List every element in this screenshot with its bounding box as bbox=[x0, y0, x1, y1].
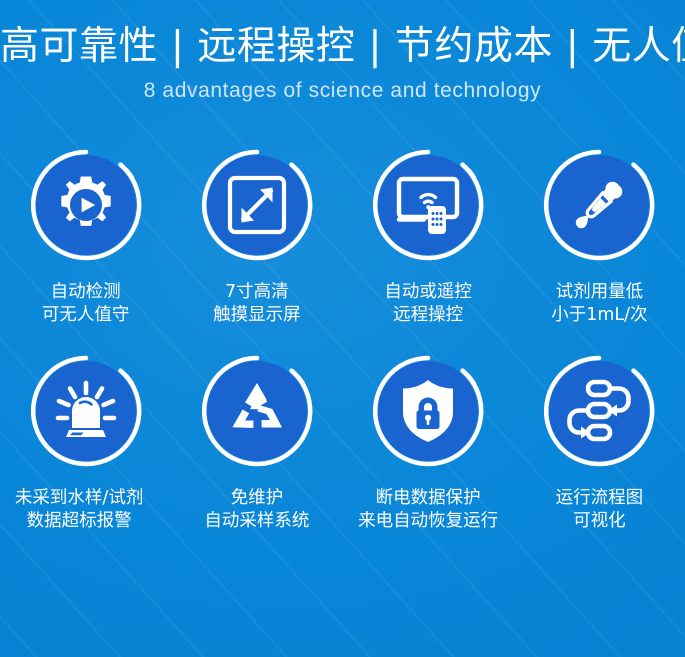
recycle-icon bbox=[207, 361, 307, 461]
advantage-item-2[interactable]: 7寸高清 触摸显示屏 bbox=[171, 146, 342, 327]
advantage-label: 试剂用量低 小于1mL/次 bbox=[551, 281, 647, 327]
advantage-label-line1: 免维护 bbox=[204, 487, 309, 510]
icon-circle bbox=[369, 352, 487, 470]
page-title: 高可靠性 | 远程操控 | 节约成本 | 无人值守 bbox=[0, 0, 685, 70]
advantages-grid: 自动检测 可无人值守 bbox=[0, 146, 685, 533]
advantages-infographic: 高可靠性 | 远程操控 | 节约成本 | 无人值守 8 advantages o… bbox=[0, 0, 685, 657]
advantage-label-line2: 自动采样系统 bbox=[204, 510, 309, 533]
advantage-item-3[interactable]: 自动或遥控 远程操控 bbox=[343, 146, 514, 327]
advantage-label: 运行流程图 可视化 bbox=[556, 487, 644, 533]
advantage-label: 免维护 自动采样系统 bbox=[204, 487, 309, 533]
advantage-label-line1: 试剂用量低 bbox=[551, 281, 647, 304]
icon-circle bbox=[369, 146, 487, 264]
icon-circle bbox=[27, 352, 145, 470]
advantage-label-line2: 远程操控 bbox=[384, 304, 472, 327]
advantage-label: 自动检测 可无人值守 bbox=[42, 281, 130, 327]
advantage-item-5[interactable]: 未采到水样/试剂 数据超标报警 bbox=[0, 352, 171, 533]
alarm-siren-icon bbox=[36, 361, 136, 461]
icon-circle bbox=[540, 146, 658, 264]
advantage-label-line2: 来电自动恢复运行 bbox=[358, 510, 498, 533]
advantage-label-line2: 数据超标报警 bbox=[15, 510, 143, 533]
icon-circle bbox=[198, 146, 316, 264]
advantage-item-6[interactable]: 免维护 自动采样系统 bbox=[171, 352, 342, 533]
advantage-label: 未采到水样/试剂 数据超标报警 bbox=[15, 487, 143, 533]
advantages-row-2: 未采到水样/试剂 数据超标报警 bbox=[0, 352, 685, 533]
advantage-label-line2: 可视化 bbox=[556, 510, 644, 533]
advantage-label: 断电数据保护 来电自动恢复运行 bbox=[358, 487, 498, 533]
expand-arrows-icon bbox=[207, 155, 307, 255]
icon-circle bbox=[27, 146, 145, 264]
advantage-label-line1: 自动或遥控 bbox=[384, 281, 472, 304]
gear-play-icon bbox=[36, 155, 136, 255]
advantages-row-1: 自动检测 可无人值守 bbox=[0, 146, 685, 327]
advantage-label-line1: 自动检测 bbox=[42, 281, 130, 304]
shield-lock-icon bbox=[378, 361, 478, 461]
advantage-label-line2: 触摸显示屏 bbox=[213, 304, 301, 327]
flowchart-loop-icon bbox=[549, 361, 649, 461]
advantage-label-line2: 小于1mL/次 bbox=[551, 304, 647, 327]
advantage-label-line1: 未采到水样/试剂 bbox=[15, 487, 143, 510]
advantage-label: 自动或遥控 远程操控 bbox=[384, 281, 472, 327]
header: 高可靠性 | 远程操控 | 节约成本 | 无人值守 8 advantages o… bbox=[0, 0, 685, 103]
advantage-item-8[interactable]: 运行流程图 可视化 bbox=[514, 352, 685, 533]
advantage-label: 7寸高清 触摸显示屏 bbox=[213, 281, 301, 327]
advantage-label-line2: 可无人值守 bbox=[42, 304, 130, 327]
advantage-label-line1: 7寸高清 bbox=[213, 281, 301, 304]
icon-circle bbox=[198, 352, 316, 470]
advantage-item-7[interactable]: 断电数据保护 来电自动恢复运行 bbox=[343, 352, 514, 533]
page-subtitle: 8 advantages of science and technology bbox=[0, 70, 685, 103]
advantage-label-line1: 断电数据保护 bbox=[358, 487, 498, 510]
dropper-icon bbox=[549, 155, 649, 255]
advantage-item-4[interactable]: 试剂用量低 小于1mL/次 bbox=[514, 146, 685, 327]
advantage-item-1[interactable]: 自动检测 可无人值守 bbox=[0, 146, 171, 327]
icon-circle bbox=[540, 352, 658, 470]
tv-remote-wifi-icon bbox=[378, 155, 478, 255]
advantage-label-line1: 运行流程图 bbox=[556, 487, 644, 510]
